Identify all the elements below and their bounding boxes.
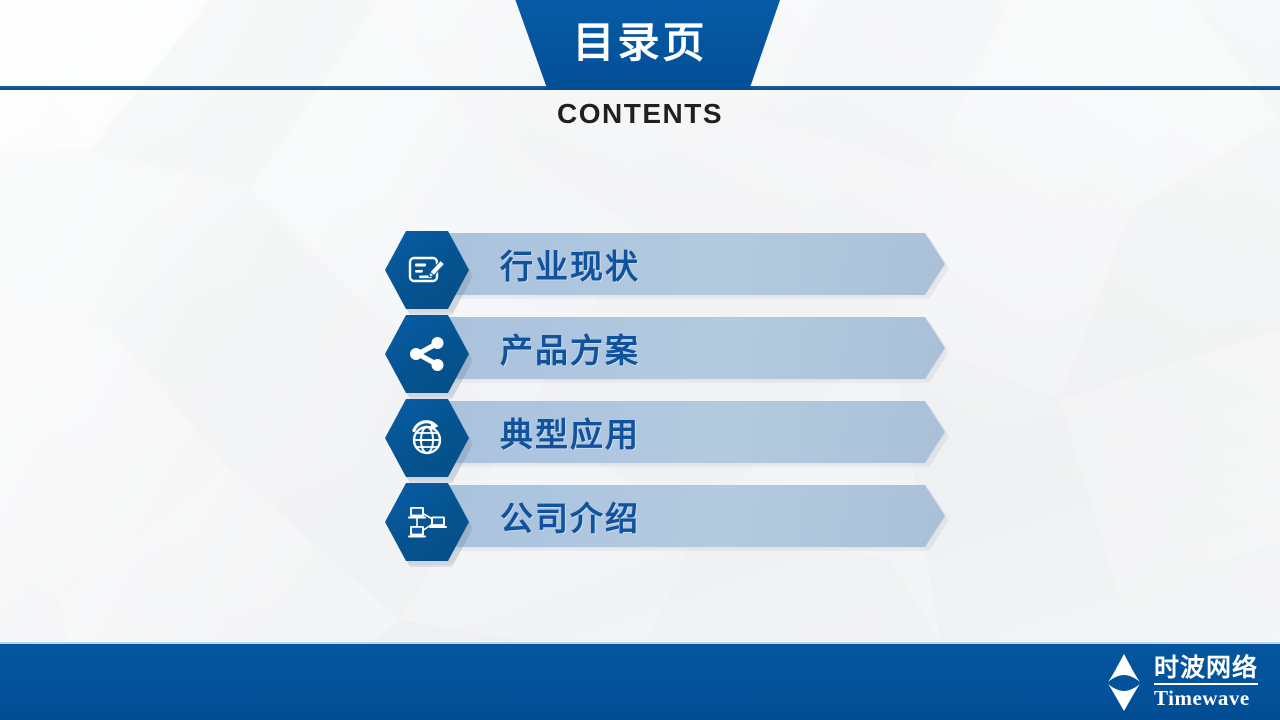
icon-hexagon-4 [385,483,473,565]
contents-item-2[interactable]: 产品方案 [0,317,1280,379]
share-nodes-icon [406,335,448,373]
contents-bar [420,317,945,379]
timewave-wave-icon [1100,651,1148,713]
contents-item-label: 行业现状 [500,233,640,295]
company-logo: 时波网络 Timewave [1030,648,1270,716]
contents-item-4[interactable]: 公司介绍 [0,485,1280,547]
contents-list: 行业现状 [0,233,1280,569]
logo-name-cn: 时波网络 [1154,655,1258,681]
contents-item-1[interactable]: 行业现状 [0,233,1280,295]
contents-bar [420,233,945,295]
slide-root: 目录页 CONTENTS [0,0,1280,720]
icon-hexagon-1 [385,231,473,313]
globe-arrow-icon [406,418,448,458]
contents-item-label: 公司介绍 [500,485,640,547]
page-subtitle: CONTENTS [0,98,1280,130]
contents-item-label: 典型应用 [500,401,640,463]
contents-item-label: 产品方案 [500,317,640,379]
contents-item-3[interactable]: 典型应用 [0,401,1280,463]
header-banner: 目录页 [500,0,780,90]
icon-hexagon-2 [385,315,473,397]
computer-network-icon [405,502,449,542]
logo-wordmark: 时波网络 Timewave [1154,655,1258,709]
contents-bar [420,401,945,463]
note-pen-icon [406,251,448,289]
logo-divider [1154,683,1258,685]
page-title: 目录页 [572,22,707,64]
contents-bar [420,485,945,547]
icon-hexagon-3 [385,399,473,481]
logo-name-en: Timewave [1154,687,1258,709]
